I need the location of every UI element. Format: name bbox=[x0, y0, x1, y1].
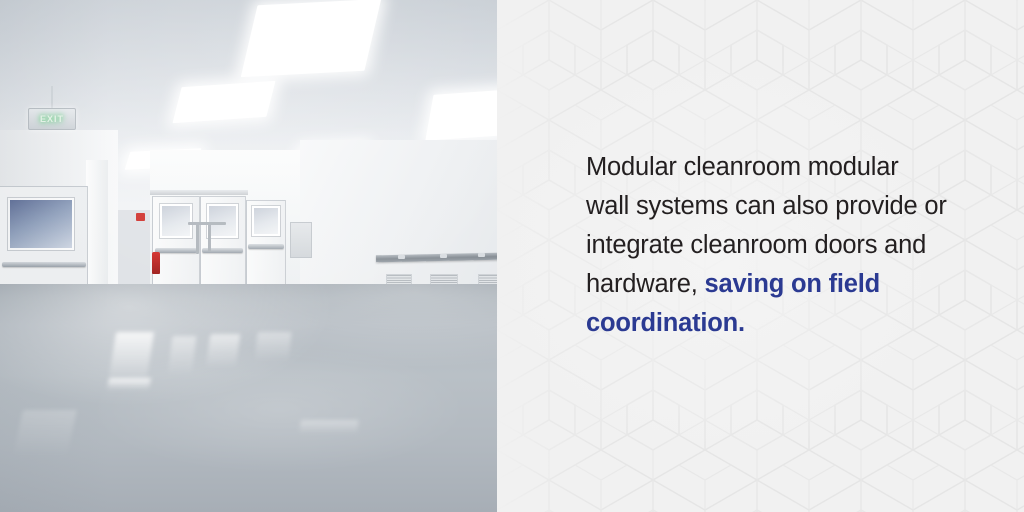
door-vision-window bbox=[8, 198, 74, 250]
promo-banner: EXIT bbox=[0, 0, 1024, 512]
rail-outlet bbox=[440, 254, 447, 258]
floor-light-reflection bbox=[299, 420, 358, 434]
exit-sign-stem bbox=[51, 86, 53, 108]
door-push-bar bbox=[2, 262, 86, 267]
epoxy-floor bbox=[0, 284, 497, 512]
door-vision-window bbox=[160, 204, 192, 238]
rail-outlet bbox=[478, 253, 485, 257]
copy-line-5: coordination. bbox=[586, 304, 956, 343]
copy-line-4-plain: hardware, bbox=[586, 270, 704, 298]
floor-light-reflection bbox=[206, 334, 241, 368]
floor-light-reflection bbox=[254, 332, 291, 362]
copy-line-4: hardware, saving on field bbox=[586, 265, 956, 304]
copy-line-2-plain: wall systems can also provide or bbox=[586, 192, 947, 220]
fire-equipment-sign bbox=[136, 213, 145, 221]
copy-line-1-plain: Modular cleanroom modular bbox=[586, 153, 898, 181]
rail-outlet bbox=[398, 255, 405, 259]
led-panel-light bbox=[241, 0, 382, 77]
door-push-bar bbox=[248, 244, 284, 249]
copy-line-2: wall systems can also provide or bbox=[586, 187, 956, 226]
door-vision-window bbox=[207, 204, 238, 238]
copy-line-3: integrate cleanroom doors and bbox=[586, 226, 956, 265]
floor-light-reflection bbox=[168, 336, 197, 376]
led-panel-light bbox=[172, 81, 275, 123]
wall-pipe bbox=[208, 224, 211, 252]
copy-block: Modular cleanroom modular wall systems c… bbox=[586, 148, 956, 343]
copy-line-1: Modular cleanroom modular bbox=[586, 148, 956, 187]
floor-sheen bbox=[0, 284, 497, 512]
wall-pipe-horizontal bbox=[188, 222, 226, 225]
led-panel-light bbox=[425, 89, 497, 140]
copy-pane: Modular cleanroom modular wall systems c… bbox=[497, 0, 1024, 512]
copy-line-4-accent: saving on field bbox=[704, 270, 880, 298]
door-header-trim bbox=[150, 190, 248, 195]
fire-extinguisher bbox=[152, 252, 160, 274]
door-vision-window bbox=[252, 206, 280, 236]
floor-light-reflection bbox=[13, 410, 77, 456]
copy-line-3-plain: integrate cleanroom doors and bbox=[586, 231, 926, 259]
exit-sign: EXIT bbox=[28, 108, 76, 130]
wall-service-panel bbox=[290, 222, 312, 258]
wall-pipe bbox=[196, 224, 199, 254]
floor-light-reflection bbox=[107, 378, 151, 390]
copy-line-5-accent: coordination. bbox=[586, 309, 745, 337]
exit-sign-label: EXIT bbox=[40, 114, 64, 124]
door-push-bar bbox=[155, 248, 197, 253]
cleanroom-photo: EXIT bbox=[0, 0, 497, 512]
